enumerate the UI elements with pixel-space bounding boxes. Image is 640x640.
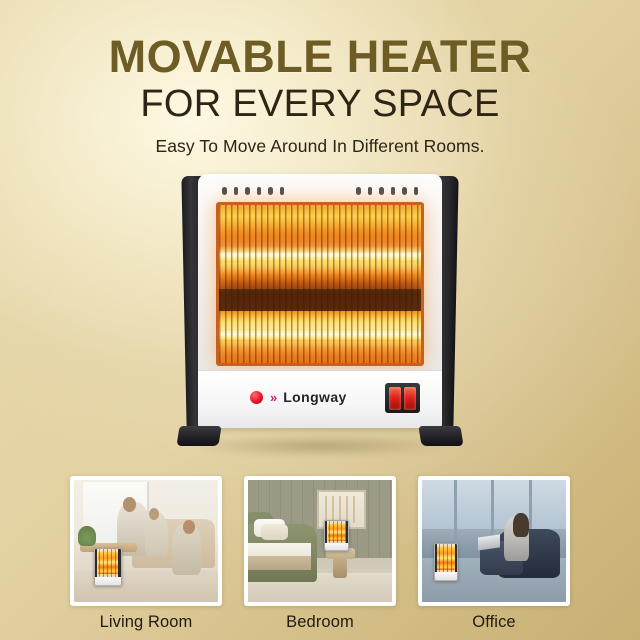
mini-heater-base xyxy=(95,577,120,585)
thumbnail-label-living-room: Living Room xyxy=(70,613,222,632)
heater-vent-strip xyxy=(198,183,442,198)
heater-glow-panel xyxy=(216,202,424,366)
vent-hole-icon xyxy=(402,187,407,195)
thumbnail-label-bedroom: Bedroom xyxy=(244,613,396,632)
vent-group-left xyxy=(222,183,284,198)
vent-hole-icon xyxy=(379,187,384,195)
rocker-switch-2[interactable] xyxy=(404,387,416,410)
scene-person-head xyxy=(123,497,136,512)
scene-bedroom xyxy=(248,480,392,602)
mini-heater-base xyxy=(325,543,347,549)
scene-living-room xyxy=(74,480,218,602)
vent-hole-icon xyxy=(391,187,396,195)
scene-side-table-base xyxy=(333,558,347,578)
scene-pillow-2 xyxy=(261,524,288,540)
scene-mini-heater xyxy=(94,548,121,586)
vent-hole-icon xyxy=(368,187,373,195)
chevron-double-right-icon: » xyxy=(270,390,274,405)
scene-plant xyxy=(78,526,95,546)
vent-hole-icon xyxy=(268,187,273,195)
scene-wall-art-pattern xyxy=(325,496,357,523)
vent-group-right xyxy=(356,183,418,198)
scene-person-head xyxy=(183,520,195,533)
heater-grill-bars xyxy=(219,205,421,363)
brand-dot-icon xyxy=(250,391,263,404)
rocker-switch-1[interactable] xyxy=(389,387,401,410)
thumbnail-frame xyxy=(418,476,570,606)
product-hero-image: » Longway xyxy=(176,172,464,450)
vent-hole-icon xyxy=(356,187,361,195)
scene-mini-heater xyxy=(324,520,348,551)
heater-power-switches[interactable] xyxy=(385,383,420,413)
thumbnail-office[interactable]: Office xyxy=(418,476,570,632)
vent-hole-icon xyxy=(257,187,262,195)
vent-hole-icon xyxy=(234,187,239,195)
room-thumbnail-row: Living Room xyxy=(0,476,640,632)
scene-person-hair xyxy=(513,513,529,537)
product-drop-shadow xyxy=(200,436,440,456)
scene-blanket xyxy=(248,556,311,571)
mini-heater-base xyxy=(435,572,457,580)
thumbnail-frame xyxy=(244,476,396,606)
poster-canvas: MOVABLE HEATER FOR EVERY SPACE Easy To M… xyxy=(0,0,640,640)
thumbnail-frame xyxy=(70,476,222,606)
brand-logo: » Longway xyxy=(250,389,347,405)
heater-foot-left xyxy=(176,426,221,446)
thumbnail-label-office: Office xyxy=(418,613,570,632)
vent-hole-icon xyxy=(222,187,227,195)
scene-mini-heater xyxy=(434,543,458,581)
headline-block: MOVABLE HEATER FOR EVERY SPACE Easy To M… xyxy=(0,34,640,157)
headline-line-1: MOVABLE HEATER xyxy=(0,34,640,80)
thumbnail-living-room[interactable]: Living Room xyxy=(70,476,222,632)
headline-line-2: FOR EVERY SPACE xyxy=(0,83,640,126)
scene-office xyxy=(422,480,566,602)
heater-control-panel: » Longway xyxy=(198,370,442,428)
thumbnail-bedroom[interactable]: Bedroom xyxy=(244,476,396,632)
vent-hole-icon xyxy=(280,187,285,195)
heater-foot-right xyxy=(418,426,463,446)
headline-subtitle: Easy To Move Around In Different Rooms. xyxy=(0,136,640,157)
brand-name-label: Longway xyxy=(283,389,346,405)
heater-body: » Longway xyxy=(198,174,442,428)
vent-hole-icon xyxy=(414,187,419,195)
vent-hole-icon xyxy=(245,187,250,195)
